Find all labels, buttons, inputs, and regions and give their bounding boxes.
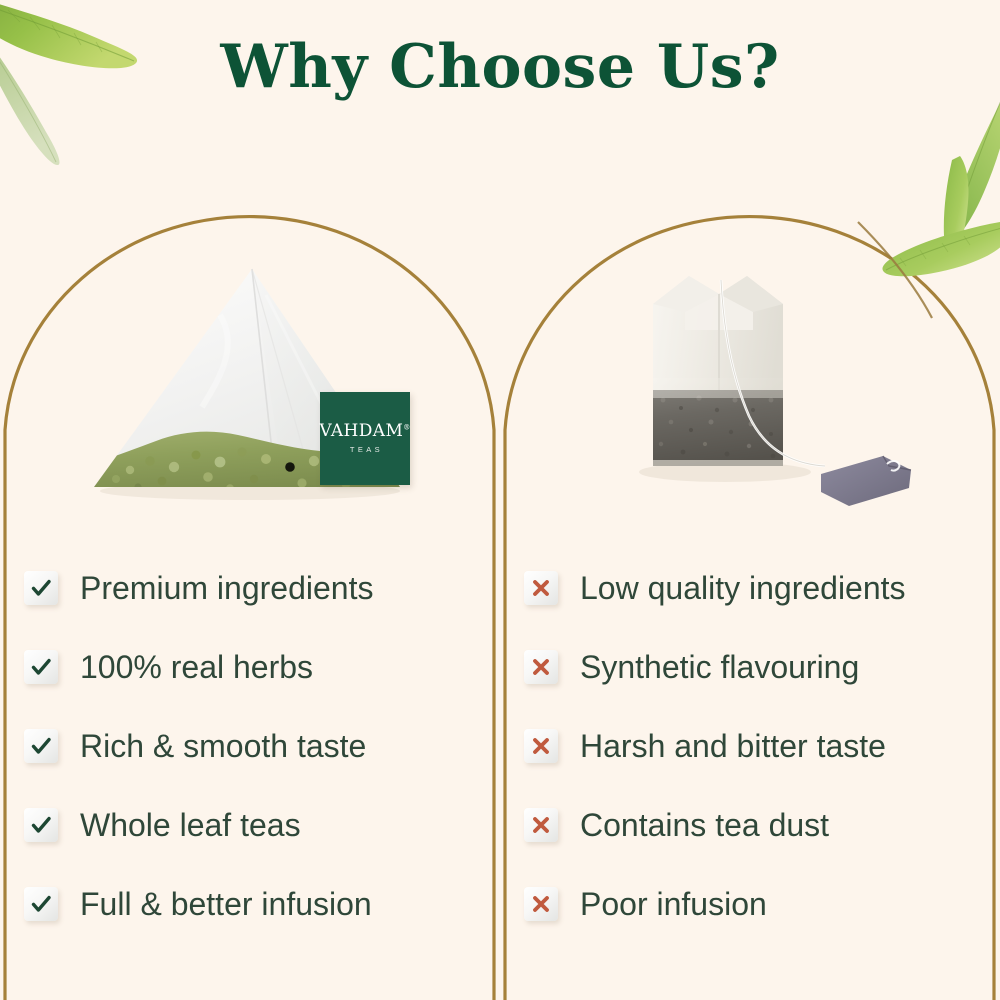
list-item[interactable]: Synthetic flavouring <box>524 627 994 706</box>
list-item[interactable]: Full & better infusion <box>24 864 484 943</box>
paper-teabag-image <box>625 250 955 520</box>
check-icon <box>24 808 58 842</box>
check-icon <box>24 729 58 763</box>
list-item-label: Low quality ingredients <box>580 572 906 604</box>
cross-icon <box>524 571 558 605</box>
list-item[interactable]: Whole leaf teas <box>24 785 484 864</box>
vahdam-logo: VAHDAM® TEAS <box>320 392 410 485</box>
product-image-right <box>505 215 990 525</box>
list-item[interactable]: Harsh and bitter taste <box>524 706 994 785</box>
list-item-label: Rich & smooth taste <box>80 730 366 762</box>
list-item-label: Harsh and bitter taste <box>580 730 886 762</box>
product-image-left: VAHDAM® TEAS <box>10 215 495 525</box>
list-item-label: Full & better infusion <box>80 888 372 920</box>
list-item[interactable]: Poor infusion <box>524 864 994 943</box>
list-item-label: Contains tea dust <box>580 809 829 841</box>
list-item[interactable]: Contains tea dust <box>524 785 994 864</box>
cross-icon <box>524 729 558 763</box>
list-item-label: Poor infusion <box>580 888 767 920</box>
list-item[interactable]: Premium ingredients <box>24 548 484 627</box>
check-icon <box>24 887 58 921</box>
list-item-label: Whole leaf teas <box>80 809 301 841</box>
cross-icon <box>524 808 558 842</box>
feature-list-left: Premium ingredients 100% real herbs Rich… <box>24 548 484 943</box>
list-item-label: Premium ingredients <box>80 572 373 604</box>
list-item[interactable]: 100% real herbs <box>24 627 484 706</box>
list-item[interactable]: Low quality ingredients <box>524 548 994 627</box>
vahdam-logo-brand: VAHDAM® <box>319 423 410 440</box>
infographic-canvas: Why Choose Us? <box>0 0 1000 1000</box>
feature-list-right: Low quality ingredients Synthetic flavou… <box>524 548 994 943</box>
list-item[interactable]: Rich & smooth taste <box>24 706 484 785</box>
cross-icon <box>524 887 558 921</box>
check-icon <box>24 650 58 684</box>
list-item-label: Synthetic flavouring <box>580 651 859 683</box>
vahdam-logo-subtitle: TEAS <box>350 446 383 454</box>
list-item-label: 100% real herbs <box>80 651 313 683</box>
teabag-tag <box>821 456 911 506</box>
page-title: Why Choose Us? <box>0 34 1000 100</box>
check-icon <box>24 571 58 605</box>
cross-icon <box>524 650 558 684</box>
